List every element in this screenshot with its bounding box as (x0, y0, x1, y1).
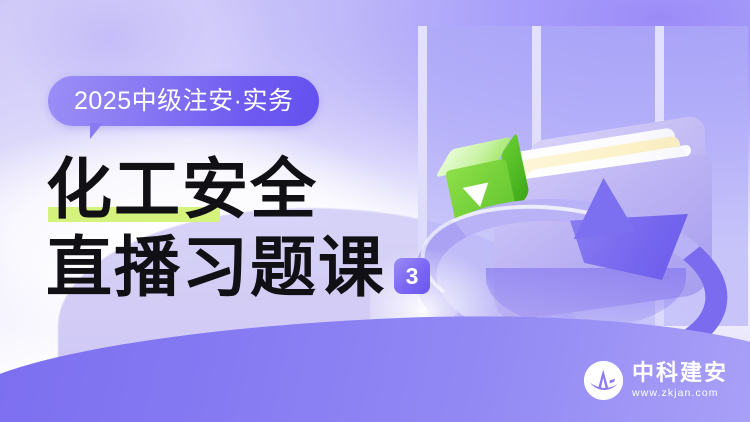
course-tag-pill-body: 2025中级注安·实务 (48, 76, 319, 126)
brand-logo-words: 中科建安 www.zkjan.com (632, 362, 728, 399)
headline-line-1-row: 化工安全 (46, 156, 430, 226)
headline-line-2: 直播习题课 (46, 234, 386, 304)
headline-block: 化工安全 直播习题课 3 (46, 156, 430, 304)
course-promo-banner: 2025中级注安·实务 化工安全 直播习题课 3 中科建安 www.zkjan.… (0, 0, 750, 422)
brand-name: 中科建安 (632, 362, 728, 384)
brand-logo: 中科建安 www.zkjan.com (584, 361, 728, 400)
course-tag-label: 2025中级注安·实务 (74, 89, 293, 114)
episode-number-badge: 3 (394, 258, 430, 294)
course-tag-pill: 2025中级注安·实务 (48, 76, 319, 126)
zkjan-person-swoosh-icon (584, 361, 623, 400)
pill-tail-pointer (90, 123, 103, 139)
headline-line-1: 化工安全 (46, 156, 318, 226)
brand-url: www.zkjan.com (632, 388, 728, 399)
headline-line-2-row: 直播习题课 3 (46, 234, 430, 304)
